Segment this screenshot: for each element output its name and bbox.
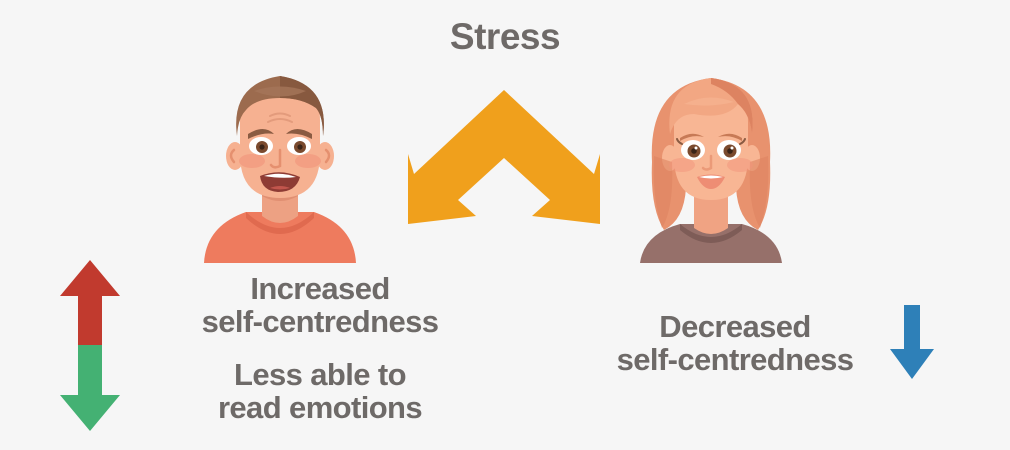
green-down-arrow-icon <box>58 345 122 438</box>
calm-woman-figure <box>618 58 803 268</box>
caption-less-able-to-read-emotions: Less able to read emotions <box>130 358 510 425</box>
red-up-arrow-icon <box>58 258 122 351</box>
angry-man-figure <box>190 58 370 268</box>
caption-decreased-self-centredness: Decreased self-centredness <box>560 310 910 377</box>
caption-increased-self-centredness: Increased self-centredness <box>130 272 510 339</box>
stress-infographic: Stress <box>0 0 1010 450</box>
page-title: Stress <box>0 16 1010 58</box>
orange-split-chevron-arrow-icon <box>404 82 604 237</box>
